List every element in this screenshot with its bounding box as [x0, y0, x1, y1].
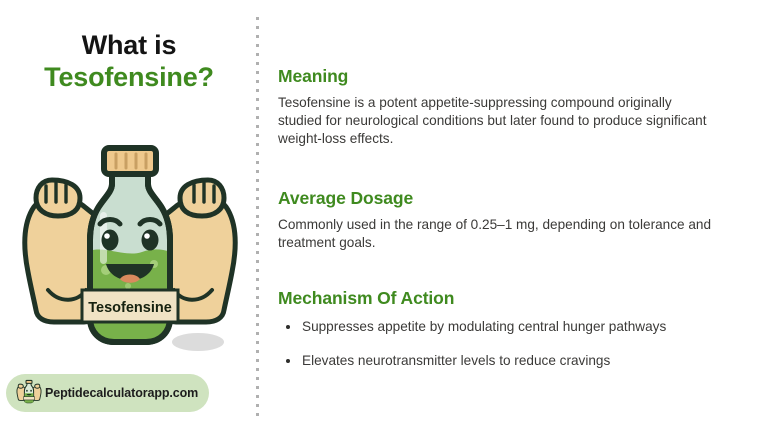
left-panel: What is Tesofensine? [0, 0, 258, 432]
brand-footer-text: Peptidecalculatorapp.com [45, 386, 198, 400]
mechanism-bullet-list: Suppresses appetite by modulating centra… [278, 318, 738, 370]
section-mechanism-of-action: Mechanism Of Action Suppresses appetite … [278, 288, 738, 370]
content-panel: Meaning Tesofensine is a potent appetite… [278, 0, 748, 432]
page-title: What is Tesofensine? [0, 30, 258, 94]
section-meaning-heading: Meaning [278, 66, 738, 87]
section-meaning-body: Tesofensine is a potent appetite-suppres… [278, 94, 716, 149]
bottle-label: Tesofensine [82, 290, 178, 322]
right-eye-highlight [144, 233, 150, 239]
brand-logo-icon [15, 379, 43, 407]
brand-footer-badge[interactable]: Peptidecalculatorapp.com [6, 374, 209, 412]
ground-shadow [172, 333, 224, 351]
left-eye-highlight [104, 233, 110, 239]
section-average-dosage-heading: Average Dosage [278, 188, 738, 209]
section-average-dosage: Average Dosage Commonly used in the rang… [278, 188, 738, 252]
vertical-dotted-divider [256, 17, 259, 417]
right-eye [142, 230, 159, 251]
section-average-dosage-body: Commonly used in the range of 0.25–1 mg,… [278, 216, 716, 252]
left-eye [102, 230, 119, 251]
title-line-primary: What is [0, 30, 258, 62]
section-mechanism-of-action-heading: Mechanism Of Action [278, 288, 738, 309]
bottle-label-text: Tesofensine [88, 300, 172, 316]
list-item: Suppresses appetite by modulating centra… [278, 318, 698, 336]
infographic-slide: What is Tesofensine? [0, 0, 768, 432]
title-line-compound: Tesofensine? [0, 62, 258, 94]
section-meaning: Meaning Tesofensine is a potent appetite… [278, 66, 738, 149]
tesofensine-bottle-mascot-illustration: Tesofensine [8, 140, 252, 375]
bottle-cap [104, 148, 156, 174]
list-item: Elevates neurotransmitter levels to redu… [278, 352, 698, 370]
